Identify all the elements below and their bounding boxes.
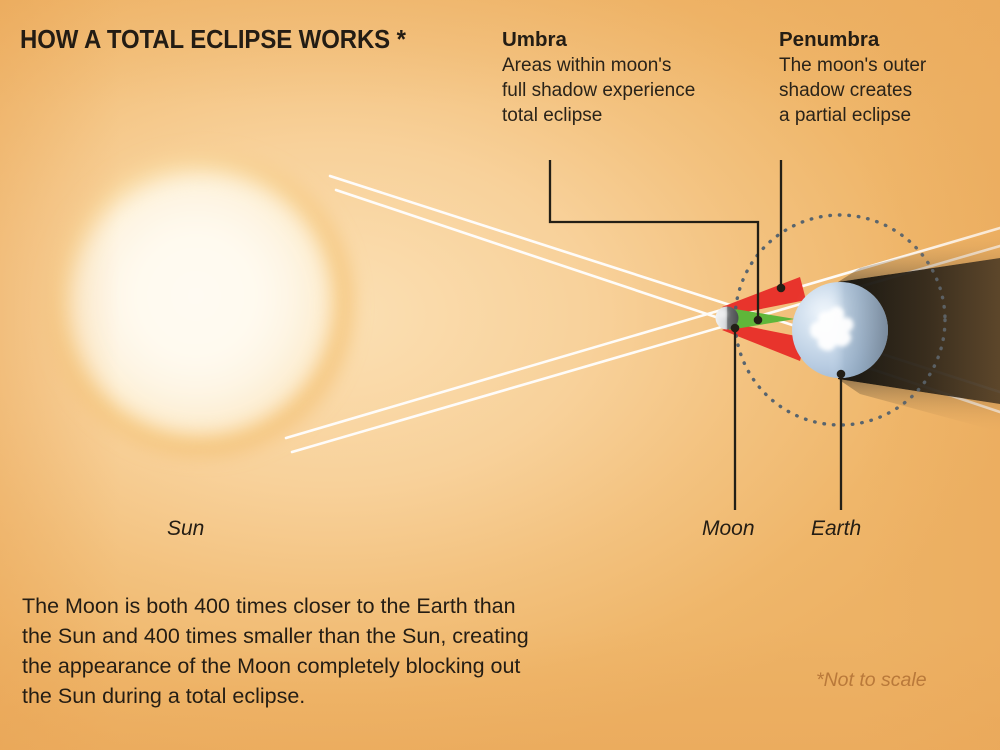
callout-penumbra: Penumbra The moon's outer shadow creates… <box>779 29 926 128</box>
label-sun: Sun <box>167 517 204 541</box>
callout-penumbra-line-1: The moon's outer <box>779 53 926 78</box>
callout-penumbra-line-2: shadow creates <box>779 78 926 103</box>
callout-umbra-heading: Umbra <box>502 29 695 52</box>
callout-penumbra-line-3: a partial eclipse <box>779 103 926 128</box>
footnote-not-to-scale: *Not to scale <box>816 669 927 692</box>
callout-umbra-line-1: Areas within moon's <box>502 53 695 78</box>
label-moon: Moon <box>702 517 755 541</box>
callout-penumbra-body: The moon's outer shadow creates a partia… <box>779 53 926 128</box>
caption-text: The Moon is both 400 times closer to the… <box>22 592 529 712</box>
page-title: HOW A TOTAL ECLIPSE WORKS * <box>20 26 406 55</box>
label-earth: Earth <box>811 517 861 541</box>
callout-umbra-line-3: total eclipse <box>502 103 695 128</box>
caption-line-3: the appearance of the Moon completely bl… <box>22 652 529 682</box>
callout-umbra-line-2: full shadow experience <box>502 78 695 103</box>
caption-line-4: the Sun during a total eclipse. <box>22 682 529 712</box>
eclipse-infographic: HOW A TOTAL ECLIPSE WORKS * Umbra Areas … <box>0 0 1000 750</box>
caption-line-2: the Sun and 400 times smaller than the S… <box>22 622 529 652</box>
caption-line-1: The Moon is both 400 times closer to the… <box>22 592 529 622</box>
callout-umbra-body: Areas within moon's full shadow experien… <box>502 53 695 128</box>
callout-umbra: Umbra Areas within moon's full shadow ex… <box>502 29 695 128</box>
callout-penumbra-heading: Penumbra <box>779 29 926 52</box>
